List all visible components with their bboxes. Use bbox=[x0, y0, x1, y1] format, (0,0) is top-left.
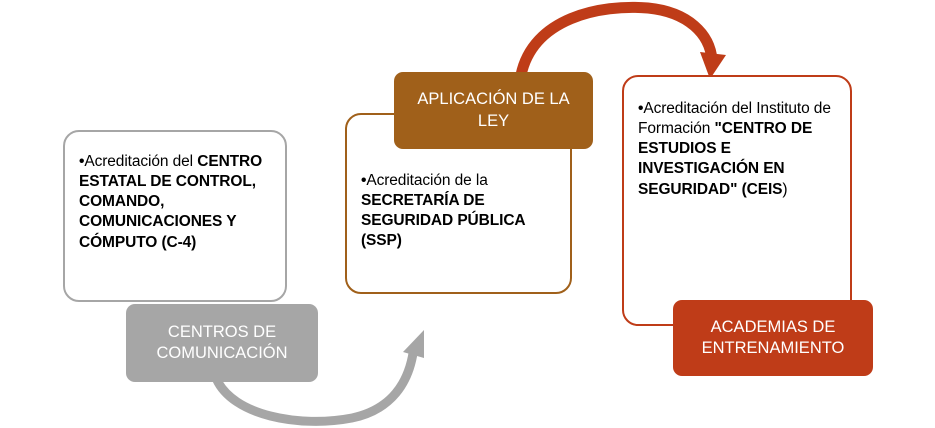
card-ssp-text: •Acreditación de la SECRETARÍA DE SEGURI… bbox=[361, 171, 562, 252]
card-ssp-lead: Acreditación de la bbox=[366, 172, 487, 189]
card-ceis-tail: ) bbox=[782, 181, 787, 198]
card-ceis-text: •Acreditación del Instituto de Formación… bbox=[638, 99, 842, 200]
box-aplicacion-de-la-ley[interactable]: APLICACIÓN DE LA LEY bbox=[394, 72, 593, 149]
curved-arrow-ley-to-ceis bbox=[521, 7, 726, 79]
box-centros-label-line2: COMUNICACIÓN bbox=[156, 344, 287, 362]
box-centros-de-comunicacion[interactable]: CENTROS DE COMUNICACIÓN bbox=[126, 304, 318, 382]
box-centros-label: CENTROS DE COMUNICACIÓN bbox=[156, 322, 287, 364]
box-academias-de-entrenamiento[interactable]: ACADEMIAS DE ENTRENAMIENTO bbox=[673, 300, 873, 376]
box-academias-label-line2: ENTRENAMIENTO bbox=[702, 339, 845, 357]
card-centro-estatal-c4: •Acreditación del CENTRO ESTATAL DE CONT… bbox=[63, 130, 287, 302]
card-c4-lead: Acreditación del bbox=[84, 153, 193, 170]
card-c4-text: •Acreditación del CENTRO ESTATAL DE CONT… bbox=[79, 152, 277, 253]
box-centros-label-line1: CENTROS DE bbox=[168, 323, 276, 341]
card-ceis-strong-suffix: (CEIS bbox=[737, 181, 782, 198]
card-ceis-instituto-formacion: •Acreditación del Instituto de Formación… bbox=[622, 75, 852, 326]
box-academias-label-line1: ACADEMIAS DE bbox=[711, 318, 836, 336]
diagram-canvas: •Acreditación del CENTRO ESTATAL DE CONT… bbox=[0, 0, 935, 428]
card-ssp-strong: SECRETARÍA DE SEGURIDAD PÚBLICA (SSP) bbox=[361, 192, 525, 249]
box-academias-label: ACADEMIAS DE ENTRENAMIENTO bbox=[702, 317, 845, 359]
box-ley-label: APLICACIÓN DE LA LEY bbox=[404, 89, 583, 131]
